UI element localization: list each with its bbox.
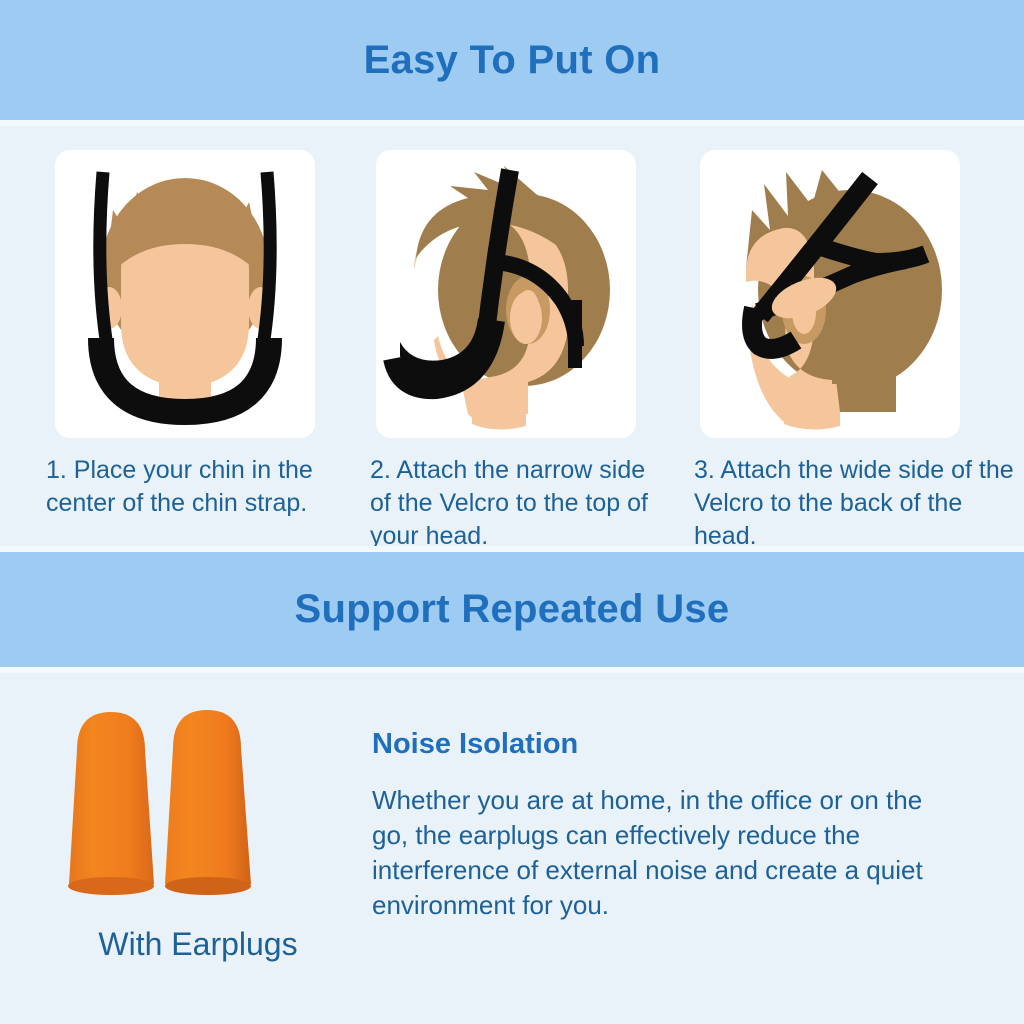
earplug-label: With Earplugs (38, 926, 358, 963)
head-front-chinstrap-icon (55, 150, 315, 438)
noise-isolation-body: Whether you are at home, in the office o… (372, 783, 947, 923)
noise-isolation-heading: Noise Isolation (372, 728, 972, 761)
head-side-strap-top-icon (376, 150, 636, 438)
step-1-illustration-card (55, 150, 315, 438)
earplug-section: With Earplugs Noise Isolation Whether yo… (0, 673, 1024, 1024)
step-item-2: 2. Attach the narrow side of the Velcro … (356, 126, 656, 553)
steps-section: 1. Place your chin in the center of the … (0, 126, 1024, 546)
head-back-strap-wide-icon (700, 150, 960, 438)
earplug-pair-illustration (55, 698, 345, 928)
infographic-page: Easy To Put On (0, 0, 1024, 1024)
noise-isolation-block: Noise Isolation Whether you are at home,… (372, 728, 972, 923)
step-1-caption: 1. Place your chin in the center of the … (46, 454, 346, 520)
step-item-3: 3. Attach the wide side of the Velcro to… (684, 126, 984, 553)
earplugs-icon (55, 698, 345, 928)
header-band-easy-to-put-on: Easy To Put On (0, 0, 1024, 120)
section-title-easy-to-put-on: Easy To Put On (364, 38, 661, 83)
header-band-support-repeated-use: Support Repeated Use (0, 552, 1024, 667)
step-item-1: 1. Place your chin in the center of the … (22, 126, 322, 520)
step-3-caption: 3. Attach the wide side of the Velcro to… (694, 454, 1014, 553)
step-3-illustration-card (700, 150, 960, 438)
step-2-caption: 2. Attach the narrow side of the Velcro … (370, 454, 660, 553)
section-title-support-repeated-use: Support Repeated Use (295, 587, 730, 632)
step-2-illustration-card (376, 150, 636, 438)
